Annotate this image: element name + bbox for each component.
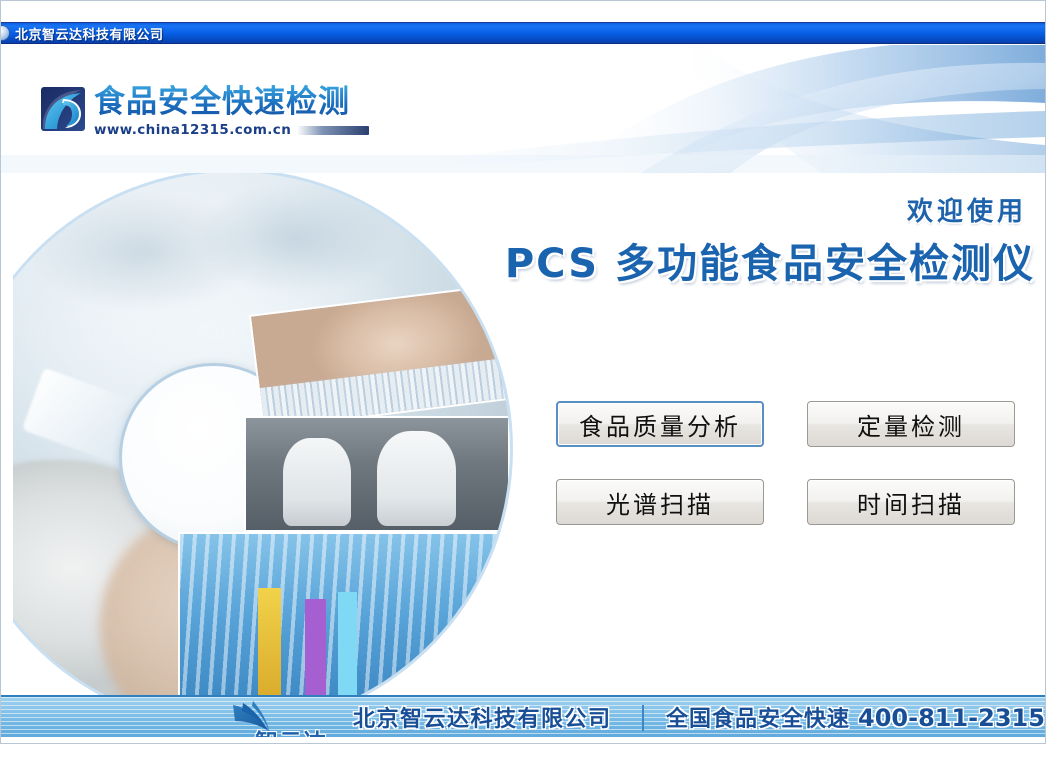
brand-logo: 食品安全快速检测 www.china12315.com.cn (41, 85, 369, 138)
footer-band: 智云达 北京智云达科技有限公司 全国食品安全快速 400-811-2315 (1, 695, 1045, 737)
footer-logo: 智云达 (229, 701, 349, 737)
footer-hotline: 全国食品安全快速 400-811-2315 (666, 701, 1045, 733)
brand-title: 食品安全快速检测 (94, 84, 350, 120)
time-scan-button[interactable]: 时间扫描 (807, 479, 1015, 525)
window-title: 北京智云达科技有限公司 (15, 24, 164, 43)
app-icon (1, 25, 10, 41)
footer-logo-text: 智云达 (255, 723, 327, 737)
brand-website: www.china12315.com.cn (94, 122, 291, 138)
collage-tile-test-tubes (178, 532, 510, 695)
lab-collage-disc-image (13, 173, 513, 695)
footer-divider (642, 705, 644, 731)
application-window: 北京智云达科技有限公司 (0, 0, 1046, 744)
food-quality-analysis-button[interactable]: 食品质量分析 (556, 401, 764, 447)
main-content: 欢迎使用 PCS 多功能食品安全检测仪 食品质量分析 定量检测 光谱扫描 时间扫… (1, 173, 1045, 695)
footer-hotline-label: 全国食品安全快速 (666, 701, 850, 733)
disc-frame (13, 173, 513, 695)
product-title: PCS 多功能食品安全检测仪 (505, 231, 1035, 289)
collage-tile-lab-workers (244, 416, 510, 532)
brand-url-bar-decoration (297, 126, 369, 135)
spectrum-scan-button[interactable]: 光谱扫描 (556, 479, 764, 525)
window-top-strip (1, 1, 1045, 22)
right-panel: 欢迎使用 PCS 多功能食品安全检测仪 食品质量分析 定量检测 光谱扫描 时间扫… (513, 173, 1045, 695)
window-titlebar[interactable]: 北京智云达科技有限公司 (1, 22, 1045, 44)
footer-hotline-number: 400-811-2315 (858, 704, 1045, 732)
quantitative-detection-button[interactable]: 定量检测 (807, 401, 1015, 447)
app-root: 北京智云达科技有限公司 (0, 0, 1059, 770)
header-band: 食品安全快速检测 www.china12315.com.cn (1, 45, 1045, 173)
wave-logo-icon (41, 87, 85, 131)
footer-company-name: 北京智云达科技有限公司 (353, 701, 612, 733)
action-button-grid: 食品质量分析 定量检测 光谱扫描 时间扫描 (556, 401, 1026, 525)
welcome-text: 欢迎使用 (907, 191, 1027, 228)
